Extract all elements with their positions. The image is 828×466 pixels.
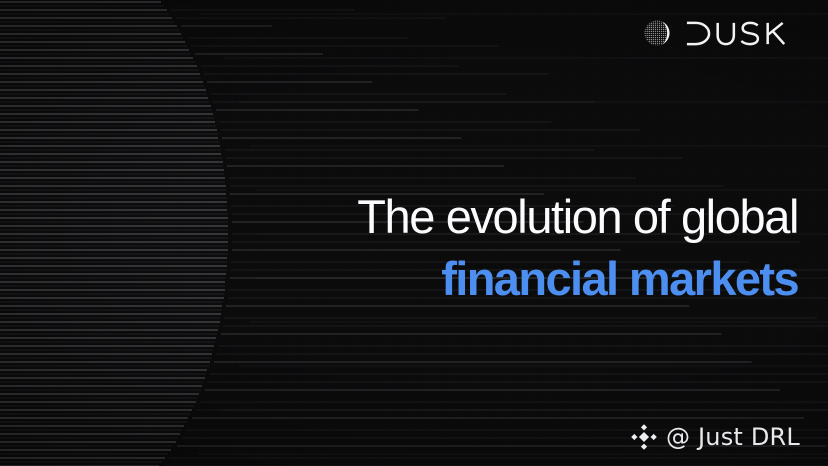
- watermark-handle: @ Just DRL: [666, 425, 800, 449]
- headline-line-1: The evolution of global: [357, 193, 798, 242]
- brand-wordmark: [685, 21, 798, 46]
- dusk-moon-icon: [642, 18, 672, 48]
- binance-diamond-icon: [631, 424, 657, 450]
- dusk-wordmark-glyphs: [685, 21, 798, 46]
- watermark: @ Just DRL: [631, 424, 800, 450]
- headline-line-2: financial markets: [357, 255, 798, 304]
- slide-canvas: The evolution of global financial market…: [0, 0, 828, 466]
- brand-logo: [642, 18, 798, 48]
- headline: The evolution of global financial market…: [357, 193, 798, 304]
